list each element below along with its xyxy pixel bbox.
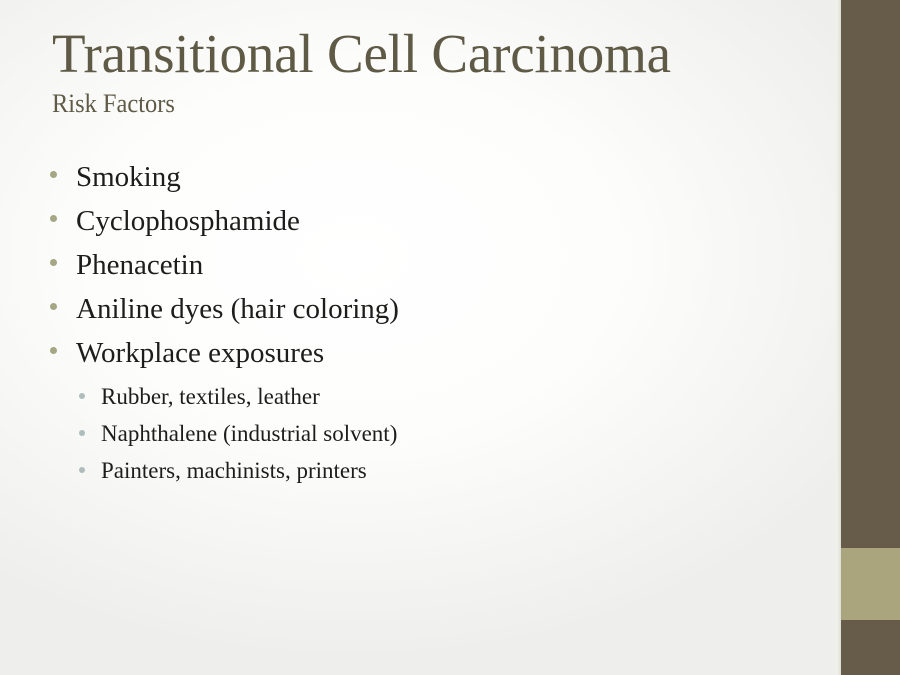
sidebar-band-dark-bottom <box>841 620 900 675</box>
sub-bullet-item: Naphthalene (industrial solvent) <box>79 417 830 454</box>
bullet-label: Phenacetin <box>76 245 203 285</box>
sub-bullet-dot-icon <box>79 393 85 399</box>
bullet-dot-icon <box>50 259 57 266</box>
sub-bullet-label: Naphthalene (industrial solvent) <box>101 417 397 450</box>
bullet-item: Cyclophosphamide <box>50 201 830 245</box>
presentation-slide: Transitional Cell Carcinoma Risk Factors… <box>0 0 900 675</box>
sub-bullet-list: Rubber, textiles, leather Naphthalene (i… <box>79 380 830 491</box>
sub-bullet-label: Painters, machinists, printers <box>101 454 367 487</box>
bullet-label: Aniline dyes (hair coloring) <box>76 289 399 329</box>
sub-bullet-dot-icon <box>79 430 85 436</box>
slide-subtitle: Risk Factors <box>52 90 766 119</box>
bullet-dot-icon <box>50 347 57 354</box>
sidebar-band-khaki <box>841 548 900 620</box>
sub-bullet-item: Painters, machinists, printers <box>79 454 830 491</box>
bullet-item: Workplace exposures <box>50 333 830 377</box>
bullet-label: Workplace exposures <box>76 333 324 373</box>
bullet-list: Smoking Cyclophosphamide Phenacetin Anil… <box>50 157 830 491</box>
sub-bullet-item: Rubber, textiles, leather <box>79 380 830 417</box>
bullet-dot-icon <box>50 215 57 222</box>
slide-decorative-sidebar <box>841 0 900 675</box>
sub-bullet-label: Rubber, textiles, leather <box>101 380 320 413</box>
slide-title: Transitional Cell Carcinoma <box>52 26 812 83</box>
bullet-dot-icon <box>50 303 57 310</box>
bullet-item: Smoking <box>50 157 830 201</box>
bullet-label: Cyclophosphamide <box>76 201 300 241</box>
title-block: Transitional Cell Carcinoma Risk Factors <box>52 26 812 118</box>
sub-bullet-dot-icon <box>79 467 85 473</box>
sidebar-band-dark-top <box>841 0 900 548</box>
bullet-dot-icon <box>50 171 57 178</box>
bullet-item: Aniline dyes (hair coloring) <box>50 289 830 333</box>
bullet-label: Smoking <box>76 157 181 197</box>
bullet-item: Phenacetin <box>50 245 830 289</box>
